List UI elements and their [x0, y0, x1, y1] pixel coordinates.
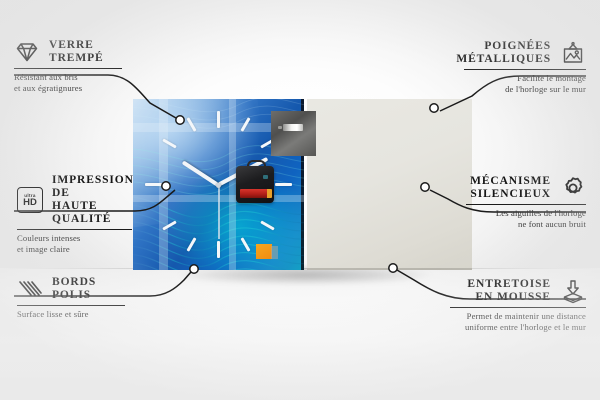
- callout-subtitle: Couleurs intenses et image claire: [17, 233, 132, 255]
- callout-divider: [17, 229, 132, 230]
- callout-impression-haute-qualite[interactable]: ultra HD IMPRESSION DE HAUTE QUALITÉ Cou…: [17, 174, 132, 255]
- hanging-frame-icon: [560, 40, 586, 66]
- callout-header: BORDS POLIS: [17, 276, 125, 302]
- callout-title: POIGNÉES MÉTALLIQUES: [456, 40, 551, 66]
- hanger-slot: [283, 124, 303, 131]
- callout-title: MÉCANISME SILENCIEUX: [470, 175, 551, 201]
- callout-header: MÉCANISME SILENCIEUX: [466, 175, 586, 201]
- callout-bords-polis[interactable]: BORDS POLIS Surface lisse et sûre: [17, 276, 125, 320]
- callout-header: VERRE TREMPÉ: [14, 39, 122, 65]
- clock-second-hand: [218, 185, 220, 239]
- ultra-hd-icon: ultra HD: [17, 187, 43, 213]
- callout-divider: [17, 305, 125, 306]
- diagonal-stripes-icon: [17, 276, 43, 302]
- battery-tip: [267, 189, 272, 198]
- callout-subtitle: Permet de maintenir une distance uniform…: [450, 311, 586, 333]
- callout-entretoise-en-mousse[interactable]: ENTRETOISE EN MOUSSE Permet de maintenir…: [450, 278, 586, 333]
- mechanism-label: [263, 175, 268, 179]
- clock-tick: [217, 111, 220, 128]
- callout-divider: [464, 69, 586, 70]
- callout-title: VERRE TREMPÉ: [49, 39, 104, 65]
- callout-header: ultra HD IMPRESSION DE HAUTE QUALITÉ: [17, 174, 132, 226]
- callout-divider: [466, 204, 586, 205]
- clock-back-panel: [307, 99, 472, 270]
- callout-subtitle: Surface lisse et sûre: [17, 309, 125, 320]
- callout-verre-trempe[interactable]: VERRE TREMPÉ Résistant aux bris et aux é…: [14, 39, 122, 94]
- clock-hand-hub: [216, 183, 221, 188]
- callout-title: ENTRETOISE EN MOUSSE: [467, 278, 551, 304]
- callout-divider: [450, 307, 586, 308]
- foam-spacer: [256, 244, 272, 259]
- metal-hanger-plate: [271, 111, 316, 156]
- press-down-arrow-icon: [560, 278, 586, 304]
- ultra-hd-icon-bottom-text: HD: [23, 198, 37, 207]
- clock-tick: [145, 183, 162, 186]
- clock-tick: [217, 241, 220, 258]
- callout-divider: [14, 68, 122, 69]
- hanger-nick: [278, 126, 282, 129]
- callout-poignees-metalliques[interactable]: POIGNÉES MÉTALLIQUES Facilite le montage…: [464, 40, 586, 95]
- battery: [240, 189, 268, 198]
- callout-header: ENTRETOISE EN MOUSSE: [450, 278, 586, 304]
- callout-subtitle: Résistant aux bris et aux égratignures: [14, 72, 122, 94]
- gear-icon: [560, 175, 586, 201]
- callout-subtitle: Facilite le montage de l'horloge sur le …: [464, 73, 586, 95]
- callout-title: IMPRESSION DE HAUTE QUALITÉ: [52, 174, 134, 226]
- infographic-canvas: VERRE TREMPÉ Résistant aux bris et aux é…: [0, 0, 600, 400]
- diamond-icon: [14, 39, 40, 65]
- callout-title: BORDS POLIS: [52, 276, 96, 302]
- clock-tick: [275, 183, 292, 186]
- callout-header: POIGNÉES MÉTALLIQUES: [464, 40, 586, 66]
- foam-spacer-shadow: [271, 246, 278, 259]
- callout-mecanisme-silencieux[interactable]: MÉCANISME SILENCIEUX Les aiguilles de l'…: [466, 175, 586, 230]
- callout-subtitle: Les aiguilles de l'horloge ne font aucun…: [466, 208, 586, 230]
